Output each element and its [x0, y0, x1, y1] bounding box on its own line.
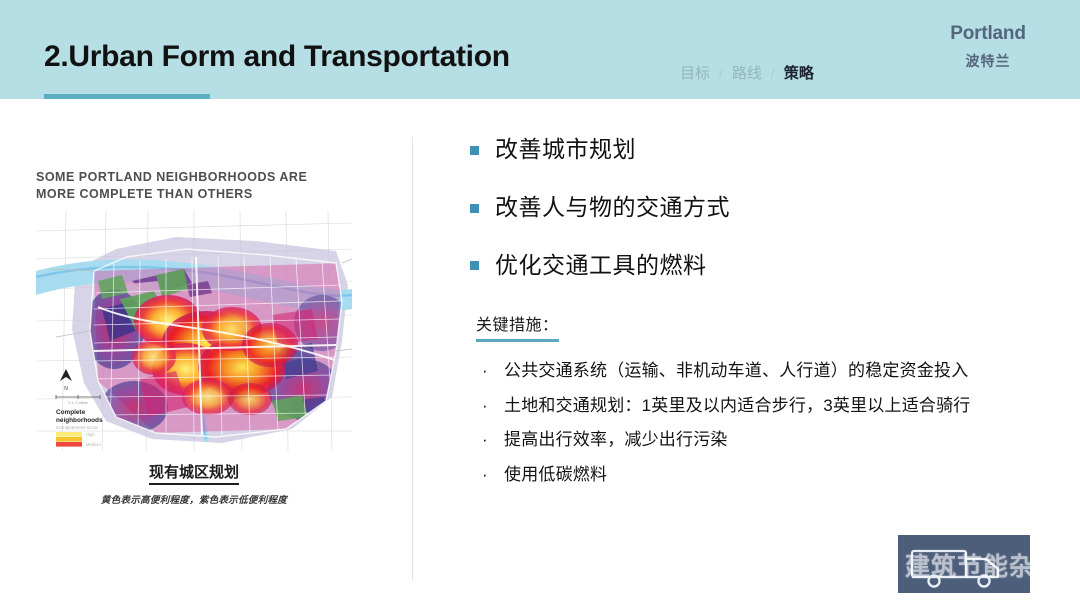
wechat-icon [856, 547, 898, 583]
svg-text:High: High [86, 432, 95, 437]
main-bullet-item: 改善城市规划 [470, 135, 1030, 164]
figure-caption-sub: 黄色表示高便利程度，紫色表示低便利程度 [36, 492, 352, 506]
dot-bullet-icon: · [476, 427, 504, 453]
logo-text-en: Portland [928, 24, 1048, 45]
column-divider [412, 137, 413, 580]
main-bullet-label: 优化交通工具的燃料 [495, 251, 707, 280]
nav-item-routes[interactable]: 路线 [732, 62, 762, 83]
breadcrumb: 目标 / 路线 / 策略 [680, 62, 814, 83]
list-item: · 使用低碳燃料 [476, 462, 1016, 488]
dot-bullet-icon: · [476, 358, 504, 384]
slide-body: SOME PORTLAND NEIGHBORHOODS ARE MORE COM… [0, 99, 1080, 607]
figure-caption-main: 现有城区规划 [149, 463, 239, 486]
svg-text:Complete: Complete [56, 409, 86, 416]
square-bullet-icon [470, 261, 479, 270]
nav-separator-2: / [771, 65, 775, 81]
list-item-label: 使用低碳燃料 [504, 462, 607, 487]
map-graphic: N 0 1 2 miles Complete neighborhoods Com… [36, 211, 352, 451]
key-measures-block: 关键措施： · 公共交通系统（运输、非机动车道、人行道）的稳定资金投入 · 土地… [476, 311, 1026, 496]
slide: 2.Urban Form and Transportation 目标 / 路线 … [0, 0, 1080, 607]
logo-text-cn: 波特兰 [928, 54, 1048, 69]
svg-text:0 1 2 miles: 0 1 2 miles [68, 400, 87, 405]
watermark: 建筑节能杂志 [856, 542, 1080, 588]
dot-bullet-icon: · [476, 462, 504, 488]
list-item: · 提高出行效率，减少出行污染 [476, 427, 1016, 453]
key-measures-title: 关键措施： [476, 311, 559, 342]
svg-text:neighborhoods: neighborhoods [56, 417, 103, 424]
svg-text:N: N [64, 386, 68, 392]
portland-logo: Portland 波特兰 [928, 24, 1048, 69]
figure-caption-main-wrap: 现有城区规划 [36, 463, 352, 486]
figure-heading-line2: MORE COMPLETE THAN OTHERS [36, 186, 366, 203]
page-title: 2.Urban Form and Transportation [44, 40, 510, 74]
nav-separator-1: / [719, 65, 723, 81]
main-bullet-item: 改善人与物的交通方式 [470, 193, 1030, 222]
key-measures-list: · 公共交通系统（运输、非机动车道、人行道）的稳定资金投入 · 土地和交通规划：… [476, 358, 1016, 487]
dot-bullet-icon: · [476, 393, 504, 419]
watermark-text: 建筑节能杂志 [905, 547, 1061, 583]
nav-item-strategy[interactable]: 策略 [784, 62, 814, 83]
square-bullet-icon [470, 204, 479, 213]
square-bullet-icon [470, 146, 479, 155]
list-item: · 公共交通系统（运输、非机动车道、人行道）的稳定资金投入 [476, 358, 1016, 384]
slide-header: 2.Urban Form and Transportation 目标 / 路线 … [0, 0, 1080, 99]
list-item-label: 提高出行效率，减少出行污染 [504, 427, 728, 452]
figure-caption: 现有城区规划 黄色表示高便利程度，紫色表示低便利程度 [36, 463, 352, 507]
list-item-label: 土地和交通规划：1英里及以内适合步行，3英里以上适合骑行 [504, 393, 971, 418]
svg-text:Medium: Medium [86, 442, 101, 447]
main-bullet-label: 改善人与物的交通方式 [495, 193, 730, 222]
list-item-label: 公共交通系统（运输、非机动车道、人行道）的稳定资金投入 [504, 358, 968, 383]
figure-panel: SOME PORTLAND NEIGHBORHOODS ARE MORE COM… [36, 169, 366, 506]
svg-text:Completeness score: Completeness score [56, 425, 98, 430]
main-bullet-item: 优化交通工具的燃料 [470, 251, 1030, 280]
main-bullet-list: 改善城市规划 改善人与物的交通方式 优化交通工具的燃料 [470, 135, 1030, 308]
figure-heading: SOME PORTLAND NEIGHBORHOODS ARE MORE COM… [36, 169, 366, 203]
figure-heading-line1: SOME PORTLAND NEIGHBORHOODS ARE [36, 169, 366, 186]
nav-item-goals[interactable]: 目标 [680, 62, 710, 83]
list-item: · 土地和交通规划：1英里及以内适合步行，3英里以上适合骑行 [476, 393, 1016, 419]
portland-completeness-map: N 0 1 2 miles Complete neighborhoods Com… [36, 211, 352, 451]
main-bullet-label: 改善城市规划 [495, 135, 636, 164]
